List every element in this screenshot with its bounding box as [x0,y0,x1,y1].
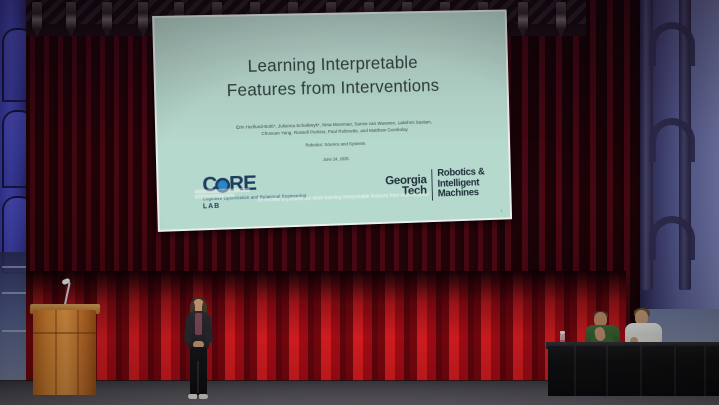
podium-panel-line [77,310,79,395]
gothic-arch [649,216,695,260]
projection-screen: Learning Interpretable Features from Int… [152,10,512,232]
presenter-shirt [195,313,202,335]
slide-title: Learning Interpretable Features from Int… [155,48,507,104]
curtain-shading [26,271,626,391]
panel-table [548,346,719,396]
table-skirt-fold [606,346,608,396]
georgia-tech-logo: Georgia Tech Robotics & Intelligent Mach… [385,164,485,206]
table-skirt-fold [574,346,576,396]
presenter-shoe [188,394,197,399]
valance-pendant [518,2,528,30]
core-lab-logo: CRE Cognitive Optimization and Relationa… [202,171,328,213]
table-skirt-fold [704,346,706,396]
valance-pendant [138,2,148,30]
core-wordmark-post: RE [229,172,256,196]
presentation-slide: Learning Interpretable Features from Int… [154,11,510,229]
gt-institute-name: Robotics & Intelligent Machines [437,168,485,200]
presenter-arm [204,315,213,344]
stage-photo-scene: Learning Interpretable Features from Int… [0,0,719,405]
gt-right-line-3: Machines [438,188,485,200]
valance-pendant [32,2,42,30]
gt-divider [431,169,433,200]
gt-name: Georgia Tech [385,174,427,197]
screen-frame: Learning Interpretable Features from Int… [152,10,512,232]
gothic-arch [649,22,695,66]
table-skirt-fold [674,346,676,396]
slide-author-list: Erin Hedlund-Botti*, Julianna Schalkwyk*… [191,117,476,140]
valance-pendant [66,2,76,30]
presenter [181,299,215,401]
podium [33,310,96,395]
podium-seam [33,332,96,334]
valance-pendant [556,2,566,30]
slide-logo-row: CRE Cognitive Optimization and Relationa… [202,164,485,213]
valance-pendant [102,2,112,30]
core-wordmark: CRE [202,171,328,196]
podium-panel-line [55,310,57,395]
gothic-arch [649,118,695,162]
slide-page-number: 1 [500,208,502,213]
table-skirt-fold [640,346,642,396]
presenter-leg-gap [197,361,199,393]
presenter-shoe [199,394,208,399]
